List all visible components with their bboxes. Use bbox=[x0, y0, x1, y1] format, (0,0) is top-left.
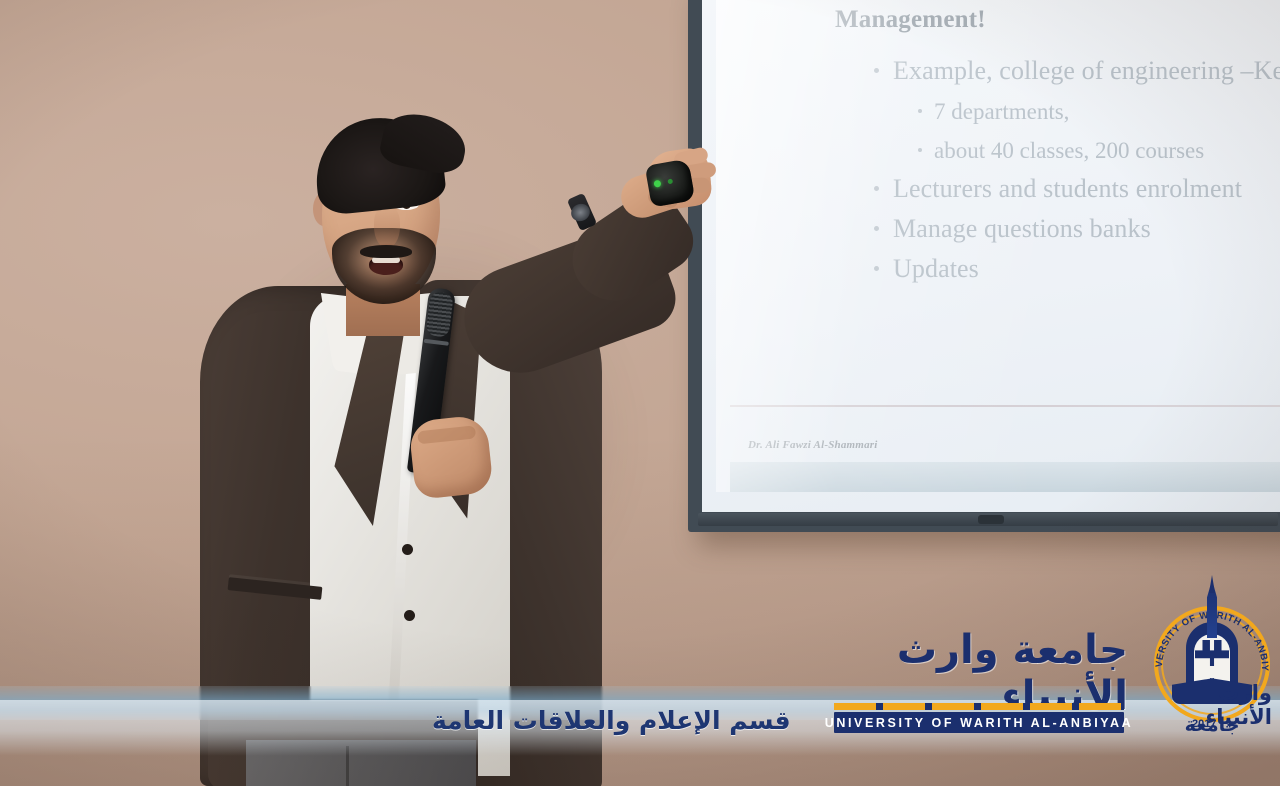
department-label: قسم الإعلام والعلاقات العامة bbox=[432, 700, 822, 740]
photo-stage: Management! Example, college of engineer… bbox=[0, 0, 1280, 786]
wordmark-navy-bar: UNIVERSITY OF WARITH AL-ANBIYAA bbox=[834, 712, 1124, 733]
emblem-minaret-tip-icon bbox=[1209, 575, 1215, 593]
wordmark-gold-rule bbox=[834, 703, 1124, 710]
wordmark-arabic: جامعة وارث الأنبياء bbox=[828, 645, 1128, 701]
emblem-year: 2017 bbox=[1192, 718, 1216, 730]
university-wordmark: جامعة وارث الأنبياء UNIVERSITY OF WARITH… bbox=[828, 645, 1128, 745]
wordmark-english: UNIVERSITY OF WARITH AL-ANBIYAA bbox=[825, 716, 1134, 730]
university-emblem: UNIVERSITY OF WARITH AL-ANBIYAA وارث الأ… bbox=[1148, 578, 1276, 743]
